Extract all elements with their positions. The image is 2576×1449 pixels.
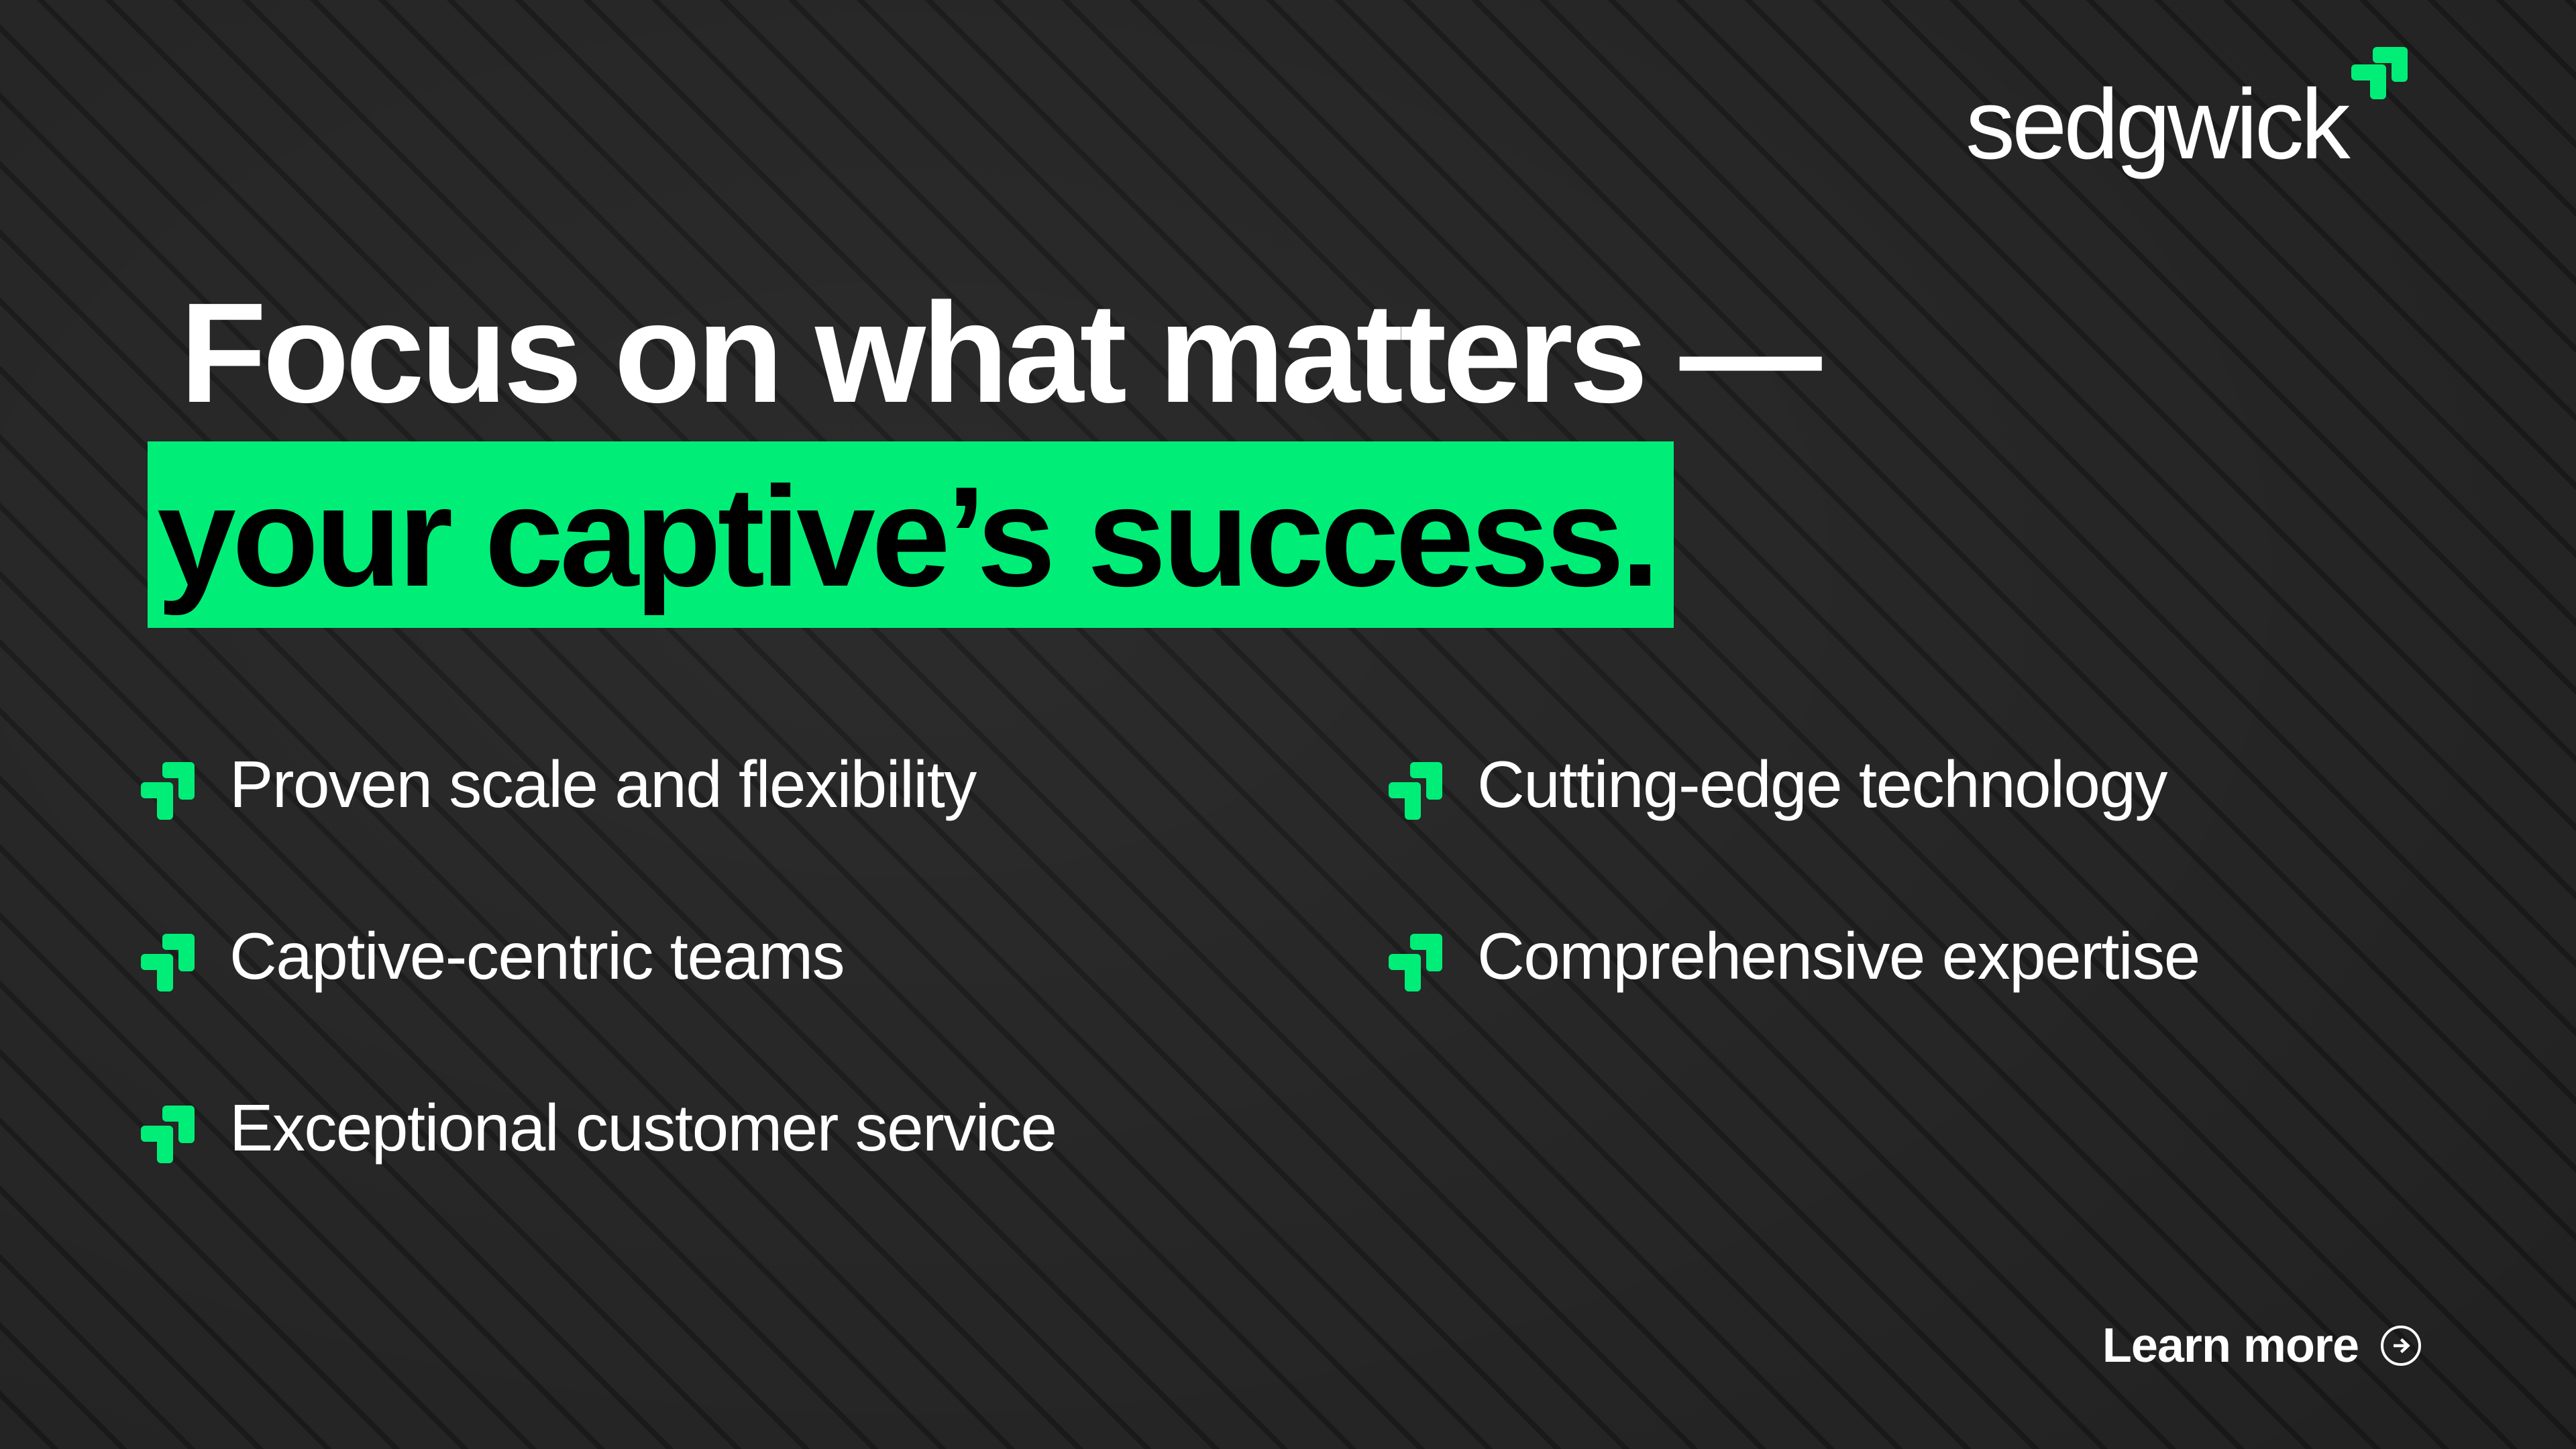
headline-line-2-highlighted: your captive’s success. xyxy=(148,441,1674,628)
list-item: Captive-centric teams xyxy=(141,923,1389,1095)
list-item: Exceptional customer service xyxy=(141,1095,1389,1267)
arrow-right-circle-icon[interactable] xyxy=(2380,1325,2422,1366)
list-item-label: Cutting-edge technology xyxy=(1477,751,2167,817)
sedgwick-corner-brackets-icon xyxy=(2351,47,2408,99)
learn-more-button[interactable]: Learn more xyxy=(2102,1322,2422,1370)
corner-brackets-bullet-icon xyxy=(1389,934,1442,991)
feature-list: Proven scale and flexibility Cutting-edg… xyxy=(141,751,2435,1267)
ad-canvas: sedgwick Focus on what matters — your ca… xyxy=(0,0,2576,1449)
sedgwick-logo[interactable]: sedgwick xyxy=(1966,75,2408,174)
list-item: Cutting-edge technology xyxy=(1389,751,2435,923)
learn-more-label: Learn more xyxy=(2102,1322,2359,1370)
list-item: Comprehensive expertise xyxy=(1389,923,2435,1095)
corner-brackets-bullet-icon xyxy=(141,934,195,991)
corner-brackets-bullet-icon xyxy=(141,762,195,820)
list-item-label: Comprehensive expertise xyxy=(1477,923,2200,989)
headline-line-1: Focus on what matters — xyxy=(170,282,1818,424)
list-item: Proven scale and flexibility xyxy=(141,751,1389,923)
list-item-label: Proven scale and flexibility xyxy=(229,751,976,817)
logo-wordmark: sedgwick xyxy=(1966,75,2347,174)
list-item-label: Captive-centric teams xyxy=(229,923,844,989)
corner-brackets-bullet-icon xyxy=(141,1106,195,1163)
corner-brackets-bullet-icon xyxy=(1389,762,1442,820)
headline-block: Focus on what matters — your captive’s s… xyxy=(170,282,1818,628)
list-item-label: Exceptional customer service xyxy=(229,1095,1057,1161)
